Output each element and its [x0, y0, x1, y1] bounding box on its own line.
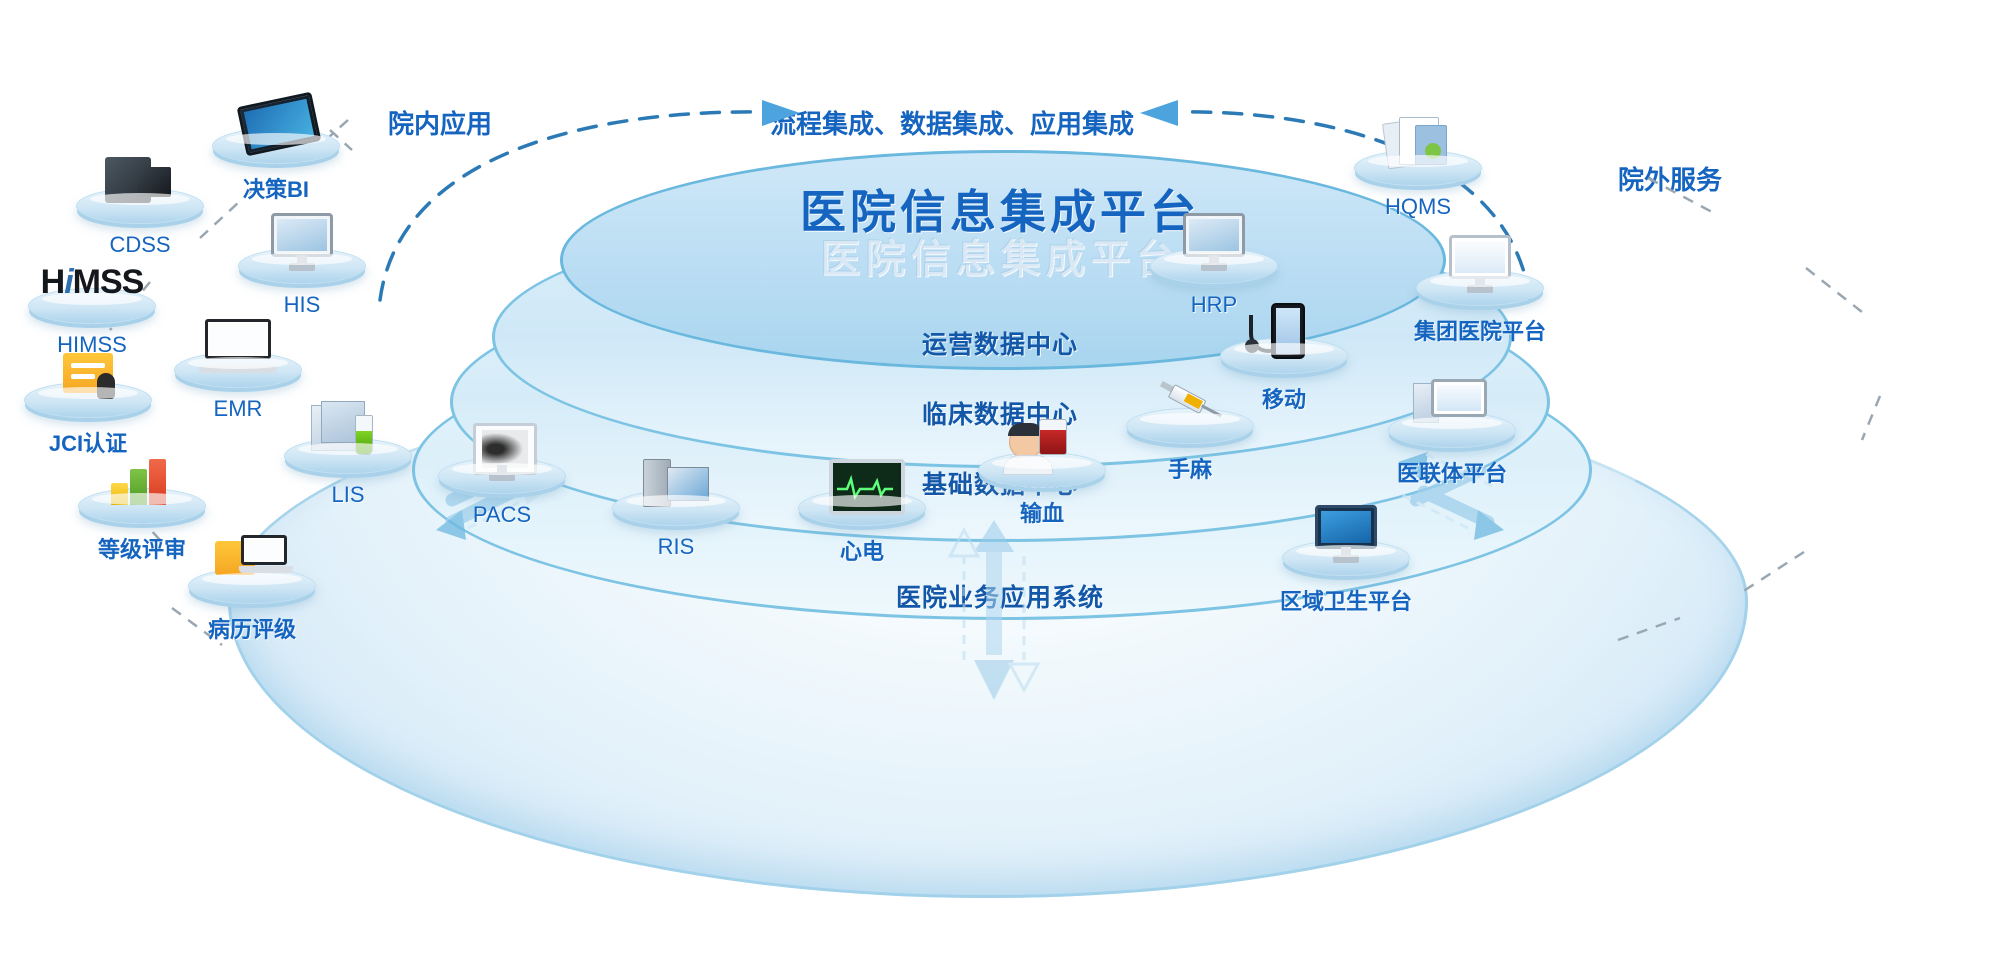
pedestal: HiMSS [28, 288, 156, 324]
pedestal [24, 382, 152, 418]
pedestal [798, 490, 926, 526]
node-jituanyiyuanpingtai[interactable]: 集团医院平台 [1400, 270, 1560, 346]
pedestal [76, 188, 204, 224]
node-yiliantipingtai[interactable]: 医联体平台 [1372, 412, 1532, 488]
pedestal [1282, 540, 1410, 576]
node-hrp[interactable]: HRP [1134, 248, 1294, 318]
node-label: 集团医院平台 [1400, 314, 1560, 346]
pedestal [1220, 338, 1348, 374]
dual-screen-icon [1413, 375, 1491, 437]
node-lis[interactable]: LIS [268, 438, 428, 508]
node-dengjipingshen[interactable]: 等级评审 [62, 488, 222, 564]
server-rack-icon [101, 151, 179, 213]
node-shuxue[interactable]: 输血 [962, 452, 1122, 528]
node-emr[interactable]: EMR [158, 352, 318, 422]
blue-monitor-icon [1307, 503, 1385, 565]
node-label: 输血 [962, 496, 1122, 528]
desktop-monitor-icon [263, 211, 341, 273]
pedestal [1416, 270, 1544, 306]
node-label: HQMS [1338, 194, 1498, 220]
node-shouma[interactable]: 手麻 [1110, 408, 1270, 484]
ecg-monitor-icon [823, 453, 901, 515]
crt-monitor-icon [1441, 233, 1519, 295]
heading-inner-applications: 院内应用 [388, 104, 492, 141]
bar-chart-icon [103, 451, 181, 513]
node-pacs[interactable]: PACS [422, 458, 582, 528]
node-label: 决策BI [196, 172, 356, 204]
node-label: PACS [422, 502, 582, 528]
tower-pc-icon [637, 453, 715, 515]
node-his[interactable]: HIS [222, 248, 382, 318]
architecture-diagram: 医院信息集成平台 医院信息集成平台 运营数据中心 临床数据中心 基础数据中心 医… [0, 0, 2000, 955]
pedestal [174, 352, 302, 388]
lab-analyzer-icon [309, 401, 387, 463]
blood-bag-icon [1003, 415, 1081, 477]
documents-icon [1379, 113, 1457, 175]
node-juecebi[interactable]: 决策BI [196, 128, 356, 204]
node-label: RIS [596, 534, 756, 560]
node-label: HRP [1134, 292, 1294, 318]
pedestal [78, 488, 206, 524]
node-label: 区域卫生平台 [1266, 584, 1426, 616]
node-cdss[interactable]: CDSS [60, 188, 220, 258]
desktop-monitor-icon [1175, 211, 1253, 273]
node-yidong[interactable]: 移动 [1204, 338, 1364, 414]
himss-logo-icon: HiMSS [53, 251, 131, 313]
node-hqms[interactable]: HQMS [1338, 150, 1498, 220]
node-jci[interactable]: JCI认证 [8, 382, 168, 458]
integration-arrow-right [1140, 100, 1178, 126]
node-label: 等级评审 [62, 532, 222, 564]
node-quyuweishengpingtai[interactable]: 区域卫生平台 [1266, 540, 1426, 616]
folder-laptop-icon [213, 531, 291, 593]
node-binglipingji[interactable]: 病历评级 [172, 568, 332, 644]
node-ris[interactable]: RIS [596, 490, 756, 560]
heading-integration: 流程集成、数据集成、应用集成 [770, 104, 1134, 141]
node-xindian[interactable]: 心电 [782, 490, 942, 566]
pedestal [438, 458, 566, 494]
xray-monitor-icon [463, 421, 541, 483]
pedestal [612, 490, 740, 526]
heading-outer-services: 院外服务 [1618, 160, 1722, 197]
node-label: 心电 [782, 534, 942, 566]
pedestal [238, 248, 366, 284]
pedestal [284, 438, 412, 474]
tablet-dashboard-icon [237, 91, 315, 153]
pedestal [1388, 412, 1516, 448]
pedestal [188, 568, 316, 604]
node-label: 手麻 [1110, 452, 1270, 484]
pedestal [978, 452, 1106, 488]
node-label: 移动 [1204, 382, 1364, 414]
certificate-seal-icon [49, 345, 127, 407]
node-label: 医联体平台 [1372, 456, 1532, 488]
pedestal [1150, 248, 1278, 284]
node-label: EMR [158, 396, 318, 422]
pedestal [1354, 150, 1482, 186]
pedestal [212, 128, 340, 164]
node-label: 病历评级 [172, 612, 332, 644]
laptop-icon [199, 315, 277, 377]
node-label: LIS [268, 482, 428, 508]
